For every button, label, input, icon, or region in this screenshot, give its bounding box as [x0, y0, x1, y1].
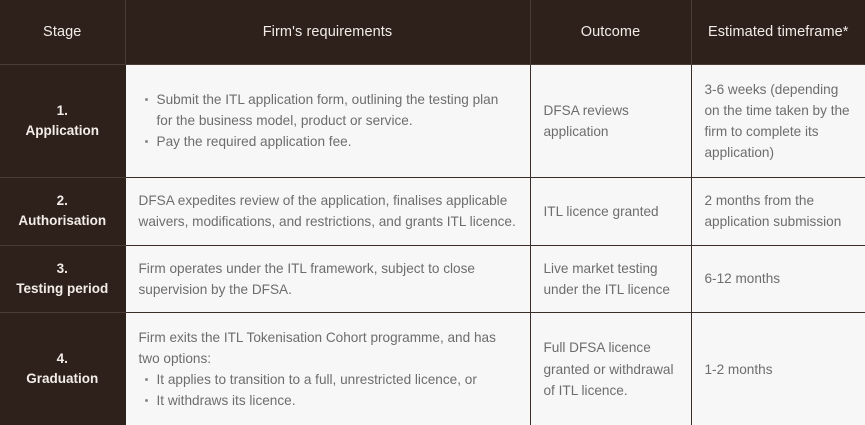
- stage-name: Graduation: [8, 369, 117, 389]
- stage-name: Authorisation: [8, 211, 117, 231]
- stage-cell-application: 1. Application: [0, 65, 125, 178]
- list-item: It withdraws its licence.: [157, 390, 517, 411]
- timeframe-cell: 3-6 weeks (depending on the time taken b…: [691, 65, 865, 178]
- itl-process-table: Stage Firm's requirements Outcome Estima…: [0, 0, 865, 425]
- column-header-estimated-timeframe: Estimated timeframe*: [691, 0, 865, 65]
- list-item: Pay the required application fee.: [157, 131, 517, 152]
- list-item: Submit the ITL application form, outlini…: [157, 89, 517, 131]
- column-header-stage: Stage: [0, 0, 125, 65]
- stage-cell-testing-period: 3. Testing period: [0, 245, 125, 313]
- column-header-outcome: Outcome: [530, 0, 691, 65]
- requirements-cell: DFSA expedites review of the application…: [125, 177, 530, 245]
- list-item: It applies to transition to a full, unre…: [157, 369, 517, 390]
- requirements-list: Submit the ITL application form, outlini…: [139, 89, 517, 152]
- requirements-text: Firm exits the ITL Tokenisation Cohort p…: [139, 327, 517, 369]
- stage-number: 4.: [8, 349, 117, 369]
- requirements-cell: Firm operates under the ITL framework, s…: [125, 245, 530, 313]
- timeframe-cell: 2 months from the application submission: [691, 177, 865, 245]
- requirements-cell: Firm exits the ITL Tokenisation Cohort p…: [125, 313, 530, 425]
- stage-number: 2.: [8, 191, 117, 211]
- timeframe-cell: 6-12 months: [691, 245, 865, 313]
- table-header: Stage Firm's requirements Outcome Estima…: [0, 0, 865, 65]
- header-row: Stage Firm's requirements Outcome Estima…: [0, 0, 865, 65]
- requirements-text: Firm operates under the ITL framework, s…: [139, 258, 517, 300]
- table-body: 1. Application Submit the ITL applicatio…: [0, 65, 865, 425]
- stage-cell-authorisation: 2. Authorisation: [0, 177, 125, 245]
- requirements-text: DFSA expedites review of the application…: [139, 190, 517, 232]
- stage-cell-graduation: 4. Graduation: [0, 313, 125, 425]
- table-row: 4. Graduation Firm exits the ITL Tokenis…: [0, 313, 865, 425]
- requirements-cell: Submit the ITL application form, outlini…: [125, 65, 530, 178]
- outcome-cell: DFSA reviews application: [530, 65, 691, 178]
- timeframe-cell: 1-2 months: [691, 313, 865, 425]
- table-row: 3. Testing period Firm operates under th…: [0, 245, 865, 313]
- stage-number: 1.: [8, 101, 117, 121]
- stage-name: Testing period: [8, 279, 117, 299]
- outcome-cell: ITL licence granted: [530, 177, 691, 245]
- requirements-list: It applies to transition to a full, unre…: [139, 369, 517, 411]
- outcome-cell: Full DFSA licence granted or withdrawal …: [530, 313, 691, 425]
- column-header-firms-requirements: Firm's requirements: [125, 0, 530, 65]
- process-table-container: Stage Firm's requirements Outcome Estima…: [0, 0, 865, 425]
- stage-number: 3.: [8, 259, 117, 279]
- stage-name: Application: [8, 121, 117, 141]
- outcome-cell: Live market testing under the ITL licenc…: [530, 245, 691, 313]
- table-row: 2. Authorisation DFSA expedites review o…: [0, 177, 865, 245]
- table-row: 1. Application Submit the ITL applicatio…: [0, 65, 865, 178]
